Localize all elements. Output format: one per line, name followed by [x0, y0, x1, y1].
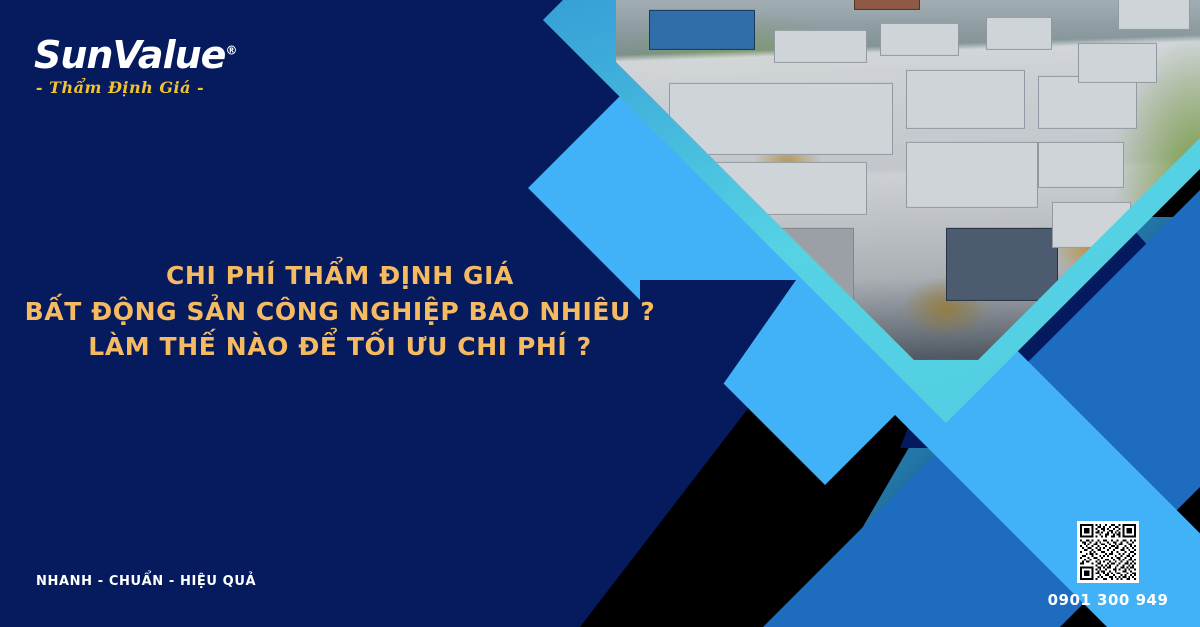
- headline-line-3: LÀM THẾ NÀO ĐỂ TỐI ƯU CHI PHÍ ?: [0, 329, 680, 365]
- logo-wordmark-text: SunValue: [34, 33, 225, 77]
- logo-wordmark: SunValue®: [34, 36, 224, 74]
- qr-code-icon[interactable]: [1077, 521, 1139, 583]
- logo[interactable]: SunValue® - Thẩm Định Giá -: [34, 36, 224, 97]
- headline: CHI PHÍ THẨM ĐỊNH GIÁ BẤT ĐỘNG SẢN CÔNG …: [0, 258, 680, 365]
- logo-subtitle: - Thẩm Định Giá -: [34, 78, 206, 97]
- registered-trademark-icon: ®: [225, 43, 236, 57]
- headline-line-2: BẤT ĐỘNG SẢN CÔNG NGHIỆP BAO NHIÊU ?: [0, 294, 680, 330]
- headline-line-1: CHI PHÍ THẨM ĐỊNH GIÁ: [0, 258, 680, 294]
- phone-number[interactable]: 0901 300 949: [1038, 591, 1178, 609]
- contact-block: 0901 300 949: [1038, 521, 1178, 609]
- banner: SunValue® - Thẩm Định Giá - CHI PHÍ THẨM…: [0, 0, 1200, 627]
- tagline: NHANH - CHUẨN - HIỆU QUẢ: [36, 574, 256, 589]
